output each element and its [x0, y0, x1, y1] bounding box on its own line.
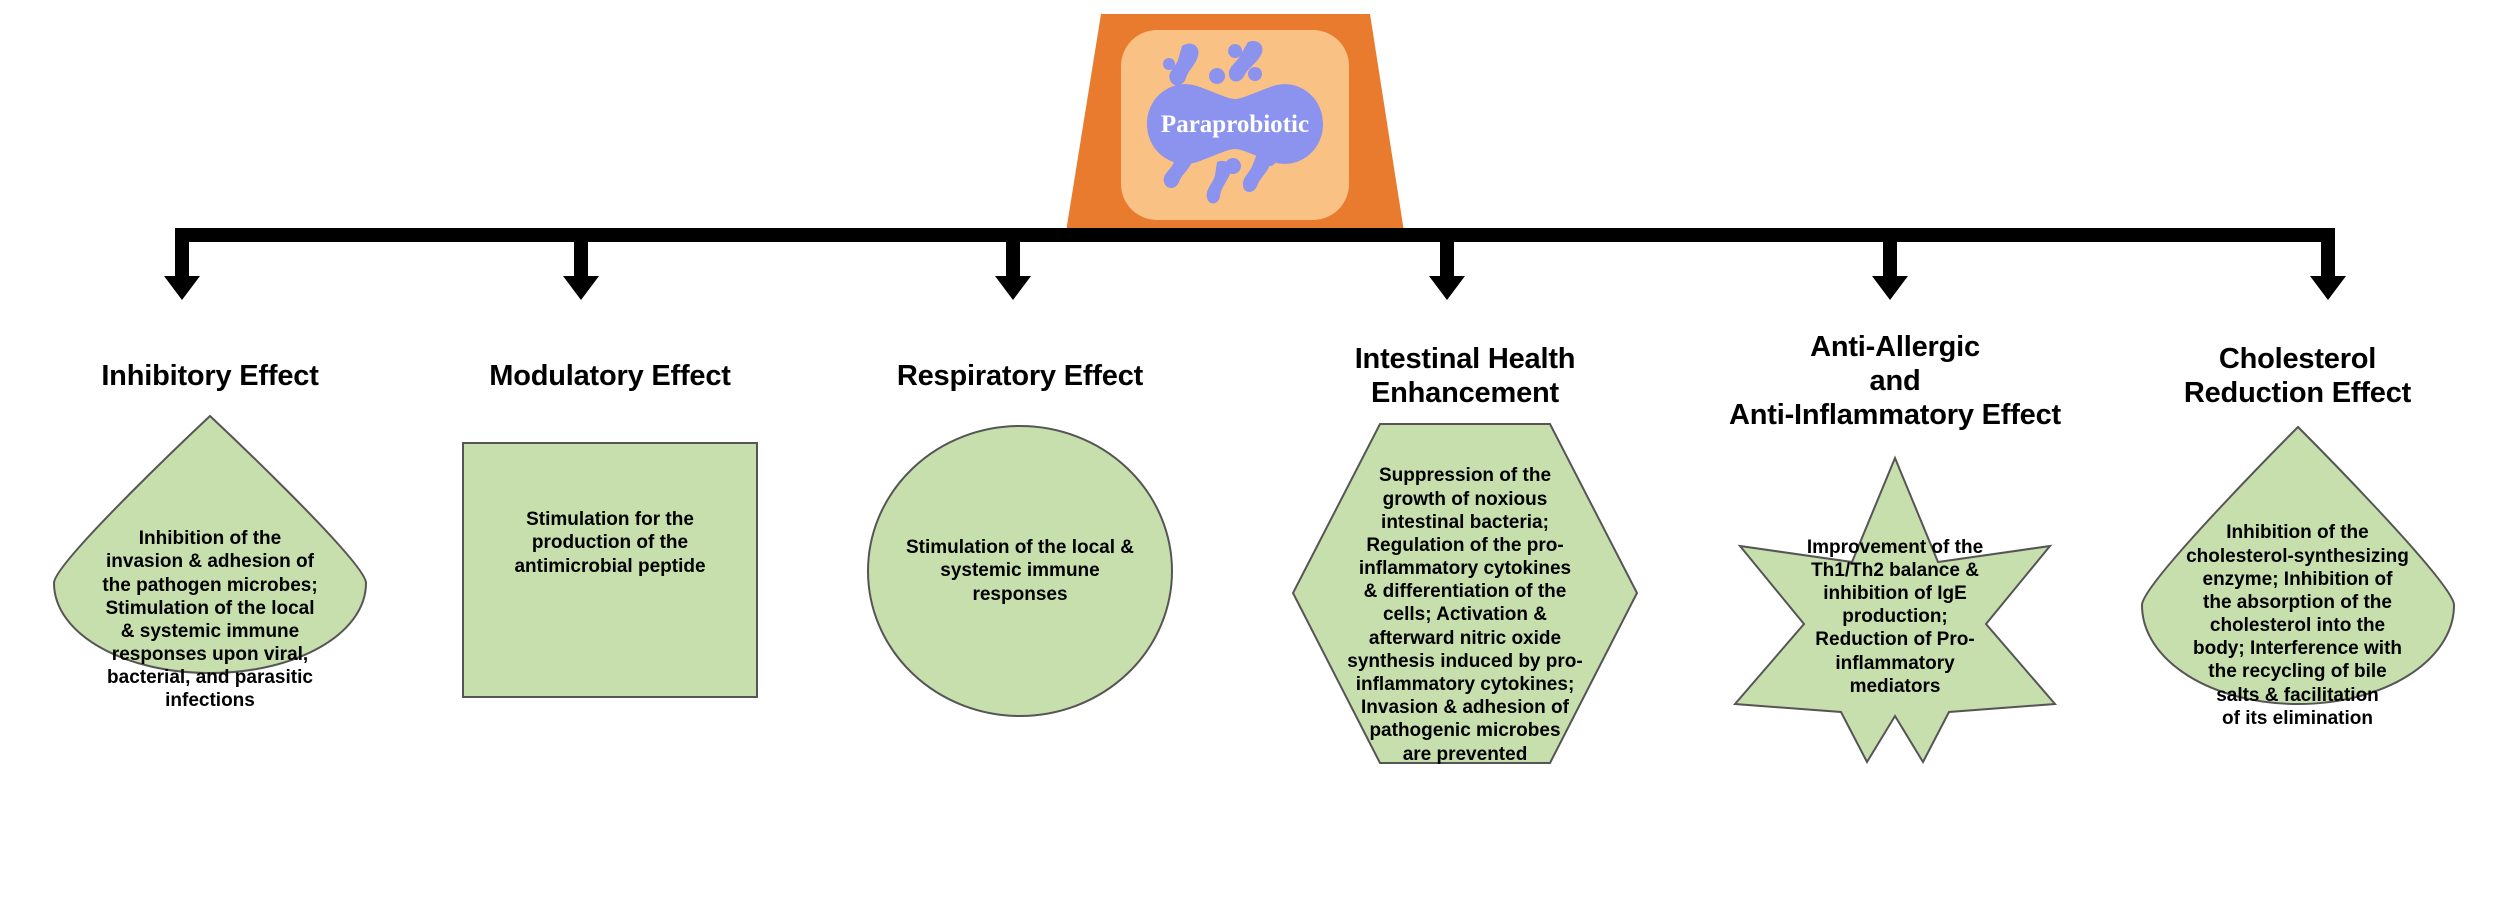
branch-intestinal-health-enhancement: Intestinal Health Enhancement Suppressio… — [1265, 330, 1665, 766]
paraprobiotic-cell-icon: Paraprobiotic — [1065, 6, 1405, 246]
source-node-paraprobiotic: Paraprobiotic — [1065, 6, 1405, 246]
shape-body-text: Inhibition of the cholesterol-synthesizi… — [2138, 521, 2458, 730]
shape-body-text: Suppression of the growth of noxious int… — [1290, 464, 1640, 765]
source-label: Paraprobiotic — [1161, 111, 1309, 138]
shape-body-text: Inhibition of the invasion & adhesion of… — [50, 527, 370, 712]
circle-shape: Stimulation of the local & systemic immu… — [865, 424, 1175, 719]
branch-cholesterol-reduction-effect: Cholesterol Reduction Effect Inhibition … — [2095, 330, 2500, 708]
branch-inhibitory-effect: Inhibitory Effect Inhibition of the inva… — [0, 330, 420, 677]
branch-title: Anti-Allergic and Anti-Inflammatory Effe… — [1680, 330, 2110, 433]
branch-title: Intestinal Health Enhancement — [1265, 330, 1665, 410]
shape-body-text: Stimulation of the local & systemic immu… — [865, 536, 1175, 606]
rectangle-shape: Stimulation for the production of the an… — [460, 440, 760, 700]
connector-arrow-4 — [1429, 240, 1465, 300]
connector-horizontal-bar — [175, 228, 2335, 242]
connector-bus — [0, 228, 2500, 318]
diagram-canvas: Paraprobiotic — [0, 0, 2500, 903]
connector-arrow-5 — [1872, 240, 1908, 300]
connector-arrow-6 — [2310, 240, 2346, 300]
branch-title: Modulatory Effect — [410, 330, 810, 393]
connector-arrow-1 — [164, 240, 200, 300]
branch-respiratory-effect: Respiratory Effect Stimulation of the lo… — [820, 330, 1220, 719]
hexagon-shape: Suppression of the growth of noxious int… — [1290, 421, 1640, 766]
branch-modulatory-effect: Modulatory Effect Stimulation for the pr… — [410, 330, 810, 700]
teardrop-shape: Inhibition of the invasion & adhesion of… — [50, 412, 370, 677]
teardrop-shape: Inhibition of the cholesterol-synthesizi… — [2138, 423, 2458, 708]
seven-point-star-shape: Improvement of the Th1/Th2 balance & inh… — [1695, 454, 2095, 766]
branch-title: Cholesterol Reduction Effect — [2095, 330, 2500, 410]
branch-title: Respiratory Effect — [820, 330, 1220, 393]
shape-body-text: Improvement of the Th1/Th2 balance & inh… — [1695, 536, 2095, 698]
branch-title: Inhibitory Effect — [0, 330, 420, 393]
shape-body-text: Stimulation for the production of the an… — [460, 508, 760, 578]
branch-anti-allergic-and-anti-inflammatory-effect: Anti-Allergic and Anti-Inflammatory Effe… — [1680, 330, 2110, 766]
connector-arrow-2 — [563, 240, 599, 300]
connector-arrow-3 — [995, 240, 1031, 300]
